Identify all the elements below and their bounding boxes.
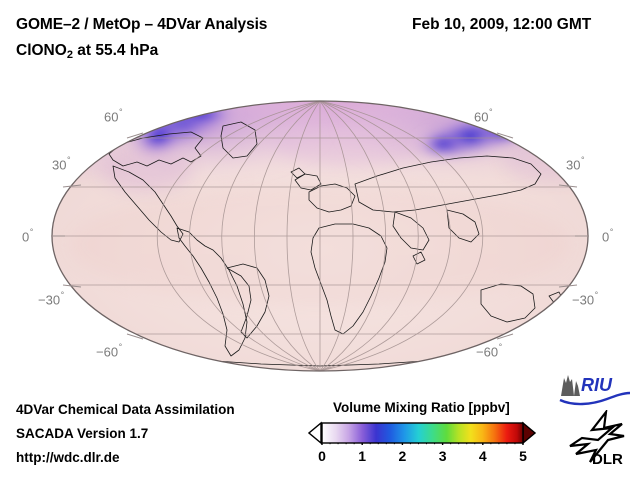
degree-symbol-icon: ° (61, 290, 65, 300)
page-title: GOME–2 / MetOp – 4DVar Analysis (16, 16, 267, 34)
riu-logo: RIU (557, 372, 633, 411)
colorbar-tick-label: 2 (398, 448, 406, 464)
lat-label-left-minus30: −30° (38, 291, 64, 307)
colorbar-gradient (322, 423, 523, 443)
pressure-level-label: at 55.4 hPa (73, 42, 158, 59)
colorbar-low-cap (309, 423, 321, 443)
degree-symbol-icon: ° (499, 342, 503, 352)
lat-label-right-minus60: −60° (476, 343, 502, 359)
degree-symbol-icon: ° (581, 155, 585, 165)
lat-label-left-0: 0° (22, 228, 33, 244)
lat-label-left-30: 30° (52, 156, 70, 172)
species-subscript: 2 (67, 49, 73, 61)
timestamp-label: Feb 10, 2009, 12:00 GMT (412, 16, 591, 34)
dlr-logo: DLR (562, 410, 634, 473)
footer-line-2: SACADA Version 1.7 (16, 426, 148, 441)
footer-line-3[interactable]: http://wdc.dlr.de (16, 450, 120, 465)
lat-label-right-0: 0° (602, 228, 613, 244)
riu-wordmark: RIU (581, 375, 613, 395)
colorbar-tick-label: 0 (318, 448, 326, 464)
dlr-wordmark: DLR (592, 451, 623, 468)
degree-symbol-icon: ° (489, 107, 493, 117)
mollweide-map (51, 100, 589, 372)
colorbar-tick-label: 5 (519, 448, 527, 464)
species-subtitle: ClONO2 at 55.4 hPa (16, 42, 158, 60)
footer-line-1: 4DVar Chemical Data Assimilation (16, 402, 235, 417)
lat-label-right-60: 60° (474, 108, 492, 124)
dlr-logo-svg: DLR (562, 410, 634, 468)
degree-symbol-icon: ° (30, 227, 34, 237)
colorbar-tick-labels: 012345 (308, 448, 536, 468)
colorbar-title: Volume Mixing Ratio [ppbv] (333, 400, 510, 415)
colorbar-high-cap (523, 423, 535, 443)
lat-label-right-minus30: −30° (572, 291, 598, 307)
riu-logo-svg: RIU (557, 372, 633, 406)
colorbar-tick-label: 3 (439, 448, 447, 464)
lat-label-right-30: 30° (566, 156, 584, 172)
riu-tower-icon (561, 375, 580, 396)
colorbar (308, 421, 536, 445)
map-data-layer (51, 100, 589, 372)
degree-symbol-icon: ° (119, 107, 123, 117)
species-name: ClONO (16, 42, 67, 59)
lat-label-left-minus60: −60° (96, 343, 122, 359)
lat-label-left-60: 60° (104, 108, 122, 124)
degree-symbol-icon: ° (119, 342, 123, 352)
map-svg (51, 100, 589, 372)
degree-symbol-icon: ° (595, 290, 599, 300)
colorbar-svg (308, 421, 536, 445)
degree-symbol-icon: ° (610, 227, 614, 237)
colorbar-tick-label: 4 (479, 448, 487, 464)
colorbar-tick-label: 1 (358, 448, 366, 464)
degree-symbol-icon: ° (67, 155, 71, 165)
